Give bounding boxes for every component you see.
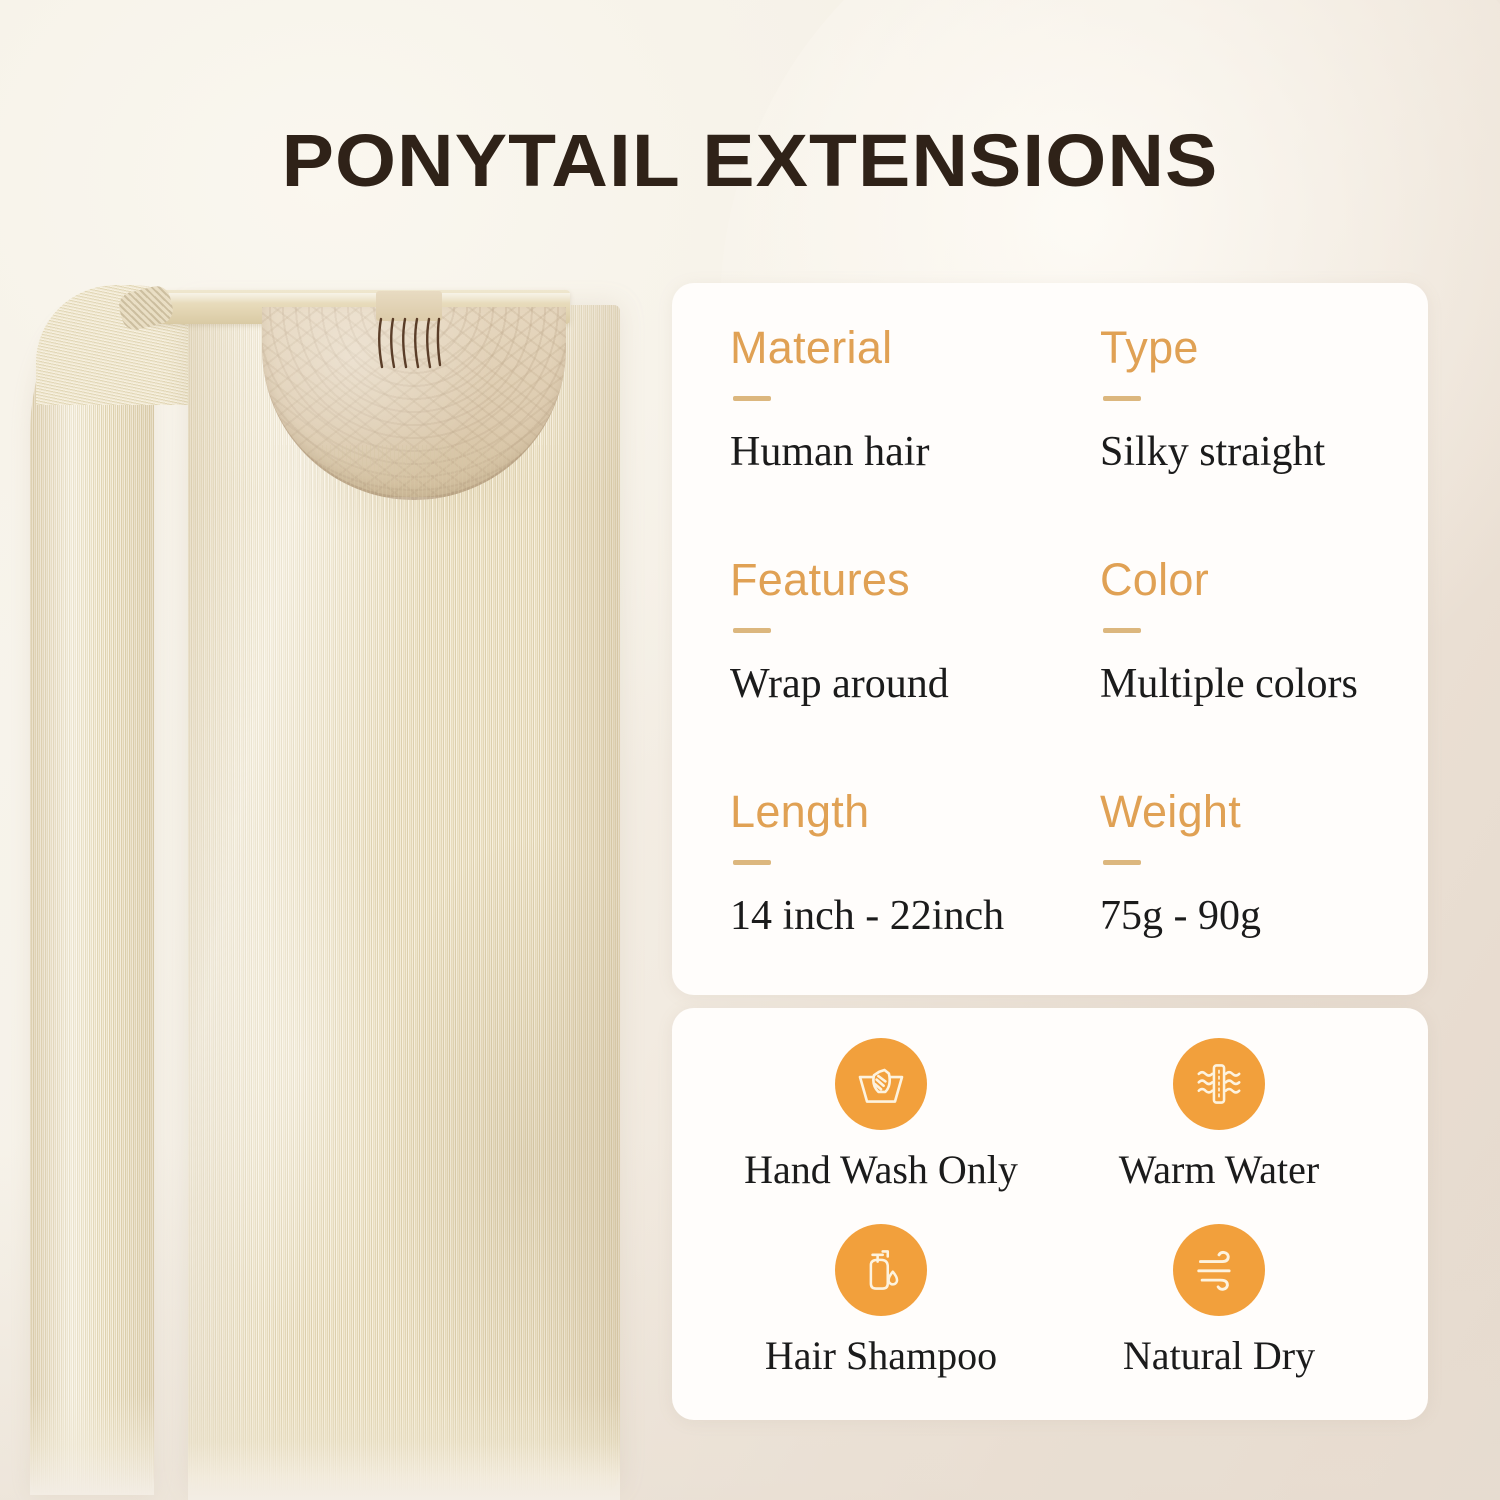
spec-value: 14 inch - 22inch bbox=[730, 893, 1100, 939]
care-item-shampoo: Hair Shampoo bbox=[712, 1224, 1050, 1410]
spec-value: Silky straight bbox=[1100, 429, 1390, 475]
spec-item-type: Type Silky straight bbox=[1100, 325, 1390, 557]
spec-value: Human hair bbox=[730, 429, 1100, 475]
wrap-strand-hair bbox=[30, 315, 154, 1495]
spec-item-features: Features Wrap around bbox=[730, 557, 1100, 789]
main-ponytail-tip bbox=[188, 1395, 620, 1500]
spec-value: Wrap around bbox=[730, 661, 1100, 707]
product-image bbox=[0, 245, 660, 1445]
spec-label: Material bbox=[730, 325, 1100, 370]
care-instructions-card: Hand Wash Only Warm Water bbox=[672, 1008, 1428, 1420]
product-infographic: PONYTAIL EXTENSIONS bbox=[0, 0, 1500, 1500]
care-label: Hair Shampoo bbox=[765, 1332, 997, 1379]
page-title: PONYTAIL EXTENSIONS bbox=[0, 118, 1500, 203]
hair-comb-icon bbox=[376, 317, 444, 373]
care-item-natural-dry: Natural Dry bbox=[1050, 1224, 1388, 1410]
care-label: Hand Wash Only bbox=[744, 1146, 1018, 1193]
spec-label: Type bbox=[1100, 325, 1390, 370]
spec-divider-dash bbox=[733, 396, 771, 401]
spec-divider-dash bbox=[733, 860, 771, 865]
hand-wash-icon bbox=[835, 1038, 927, 1130]
spec-divider-dash bbox=[1103, 396, 1141, 401]
spec-label: Color bbox=[1100, 557, 1390, 602]
shampoo-bottle-icon bbox=[835, 1224, 927, 1316]
spec-item-material: Material Human hair bbox=[730, 325, 1100, 557]
spec-value: 75g - 90g bbox=[1100, 893, 1390, 939]
spec-label: Length bbox=[730, 789, 1100, 834]
spec-item-color: Color Multiple colors bbox=[1100, 557, 1390, 789]
spec-item-length: Length 14 inch - 22inch bbox=[730, 789, 1100, 1021]
wrap-strap-highlight bbox=[150, 293, 570, 303]
spec-label: Features bbox=[730, 557, 1100, 602]
spec-value: Multiple colors bbox=[1100, 661, 1390, 707]
spec-divider-dash bbox=[1103, 628, 1141, 633]
care-label: Warm Water bbox=[1119, 1146, 1320, 1193]
lace-hair-fan bbox=[246, 445, 586, 595]
spec-divider-dash bbox=[1103, 860, 1141, 865]
care-instructions-grid: Hand Wash Only Warm Water bbox=[712, 1038, 1388, 1410]
specification-grid: Material Human hair Type Silky straight … bbox=[730, 325, 1390, 1021]
thermometer-warm-water-icon bbox=[1173, 1038, 1265, 1130]
air-dry-wind-icon bbox=[1173, 1224, 1265, 1316]
care-item-warm-water: Warm Water bbox=[1050, 1038, 1388, 1224]
care-item-hand-wash: Hand Wash Only bbox=[712, 1038, 1050, 1224]
care-label: Natural Dry bbox=[1123, 1332, 1315, 1379]
spec-label: Weight bbox=[1100, 789, 1390, 834]
wrap-strand-tip bbox=[30, 1395, 154, 1495]
specification-card: Material Human hair Type Silky straight … bbox=[672, 283, 1428, 995]
main-ponytail-shading bbox=[188, 675, 620, 1490]
spec-item-weight: Weight 75g - 90g bbox=[1100, 789, 1390, 1021]
spec-divider-dash bbox=[733, 628, 771, 633]
